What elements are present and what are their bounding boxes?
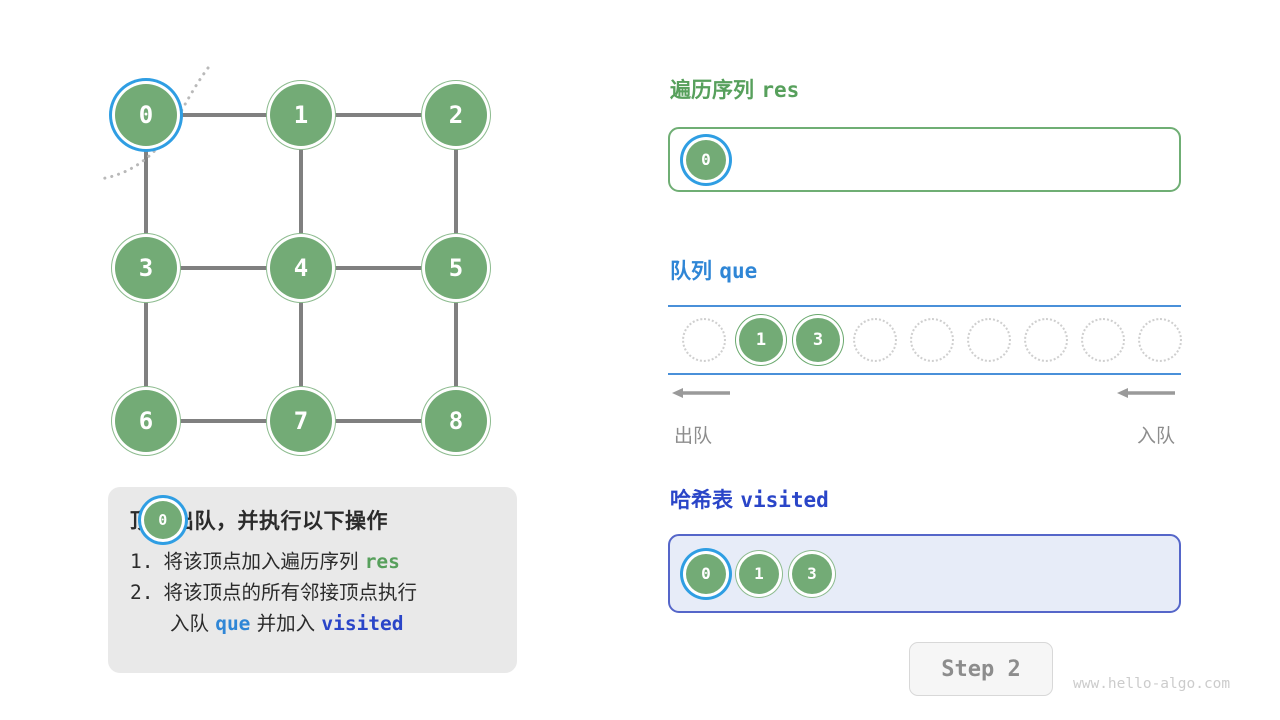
caption-text-fragment: 将该顶点加入遍历序列 <box>163 550 364 573</box>
queue-slot-empty-8 <box>1138 318 1182 362</box>
queue-slot-empty-7 <box>1081 318 1125 362</box>
graph-diagram: 012345678 <box>0 0 600 470</box>
caption-step-item: 1.将该顶点加入遍历序列 res <box>130 547 495 578</box>
dequeue-label: 出队 <box>674 421 712 448</box>
res-node-0: 0 <box>686 140 726 180</box>
queue-section-title: 队列 que <box>670 255 757 285</box>
caption-text-fragment: 入队 <box>170 612 215 635</box>
caption-text-fragment: 将该顶点的所有邻接顶点执行 <box>163 581 417 604</box>
graph-node-4: 4 <box>270 237 332 299</box>
visited-title-code: visited <box>740 488 829 512</box>
queue-slot-empty-4 <box>910 318 954 362</box>
visited-node-0: 0 <box>686 554 726 594</box>
queue-slot-filled-1: 1 <box>739 318 783 362</box>
queue-arrows <box>668 375 1181 421</box>
visited-title-cn: 哈希表 <box>670 488 733 512</box>
queue-slot-empty-3 <box>853 318 897 362</box>
caption-step-text: 将该顶点的所有邻接顶点执行 <box>163 578 417 609</box>
caption-text-fragment: que <box>215 612 250 635</box>
figure-canvas: 012345678 顶点 0 出队，并执行以下操作 1.将该顶点加入遍历序列 r… <box>0 0 1280 720</box>
watermark-text: www.hello-algo.com <box>1073 676 1230 692</box>
caption-step-number: 1. <box>130 547 153 578</box>
graph-node-0: 0 <box>115 84 177 146</box>
graph-node-8: 8 <box>425 390 487 452</box>
caption-text-fragment: 并加入 <box>250 612 321 635</box>
visited-items: 013 <box>686 554 845 594</box>
step-label: Step 2 <box>941 657 1020 682</box>
queue-slot-empty-0 <box>682 318 726 362</box>
queue-slot-filled-3: 3 <box>796 318 840 362</box>
enqueue-label: 入队 <box>1137 421 1175 448</box>
caption-text-fragment: res <box>365 550 400 573</box>
arrow-left-icon-dequeue <box>672 387 732 399</box>
queue-slots: 13 <box>668 307 1181 373</box>
res-title-cn: 遍历序列 <box>670 78 754 102</box>
graph-node-7: 7 <box>270 390 332 452</box>
caption-steps-list: 1.将该顶点加入遍历序列 res2.将该顶点的所有邻接顶点执行入队 que 并加… <box>130 547 495 639</box>
graph-node-2: 2 <box>425 84 487 146</box>
caption-text-fragment: visited <box>321 612 403 635</box>
step-badge: Step 2 <box>909 642 1053 696</box>
operation-caption-box: 顶点 0 出队，并执行以下操作 1.将该顶点加入遍历序列 res2.将该顶点的所… <box>108 487 517 673</box>
queue-container: 13 出队 入队 <box>668 305 1181 451</box>
queue-slot-empty-5 <box>967 318 1011 362</box>
res-section-title: 遍历序列 res <box>670 74 799 104</box>
caption-step-item: 2.将该顶点的所有邻接顶点执行 <box>130 578 495 609</box>
visited-container: 013 <box>668 534 1181 613</box>
res-title-code: res <box>761 78 799 102</box>
caption-head-suffix: 出队，并执行以下操作 <box>173 505 388 535</box>
queue-title-cn: 队列 <box>670 259 712 283</box>
visited-node-3: 3 <box>792 554 832 594</box>
caption-step-number: 2. <box>130 578 153 609</box>
res-items: 0 <box>686 140 739 180</box>
queue-end-labels: 出队 入队 <box>668 421 1181 451</box>
watermark: www.hello-algo.com <box>1073 676 1230 692</box>
graph-node-6: 6 <box>115 390 177 452</box>
caption-vertex-node: 0 <box>144 501 182 539</box>
state-panels: 遍历序列 res 0 队列 que 13 <box>660 0 1280 720</box>
caption-step-number <box>130 609 160 640</box>
graph-node-5: 5 <box>425 237 487 299</box>
caption-headline: 顶点 0 出队，并执行以下操作 <box>130 505 495 535</box>
caption-step-item: 入队 que 并加入 visited <box>130 609 495 640</box>
queue-title-code: que <box>719 259 757 283</box>
caption-vertex-label: 0 <box>158 513 168 528</box>
visited-node-1: 1 <box>739 554 779 594</box>
visited-section-title: 哈希表 visited <box>670 484 829 514</box>
queue-slot-empty-6 <box>1024 318 1068 362</box>
graph-node-1: 1 <box>270 84 332 146</box>
caption-step-text: 入队 que 并加入 visited <box>170 609 404 640</box>
caption-step-text: 将该顶点加入遍历序列 res <box>163 547 399 578</box>
arrow-left-icon-enqueue <box>1117 387 1177 399</box>
graph-node-3: 3 <box>115 237 177 299</box>
res-container: 0 <box>668 127 1181 192</box>
